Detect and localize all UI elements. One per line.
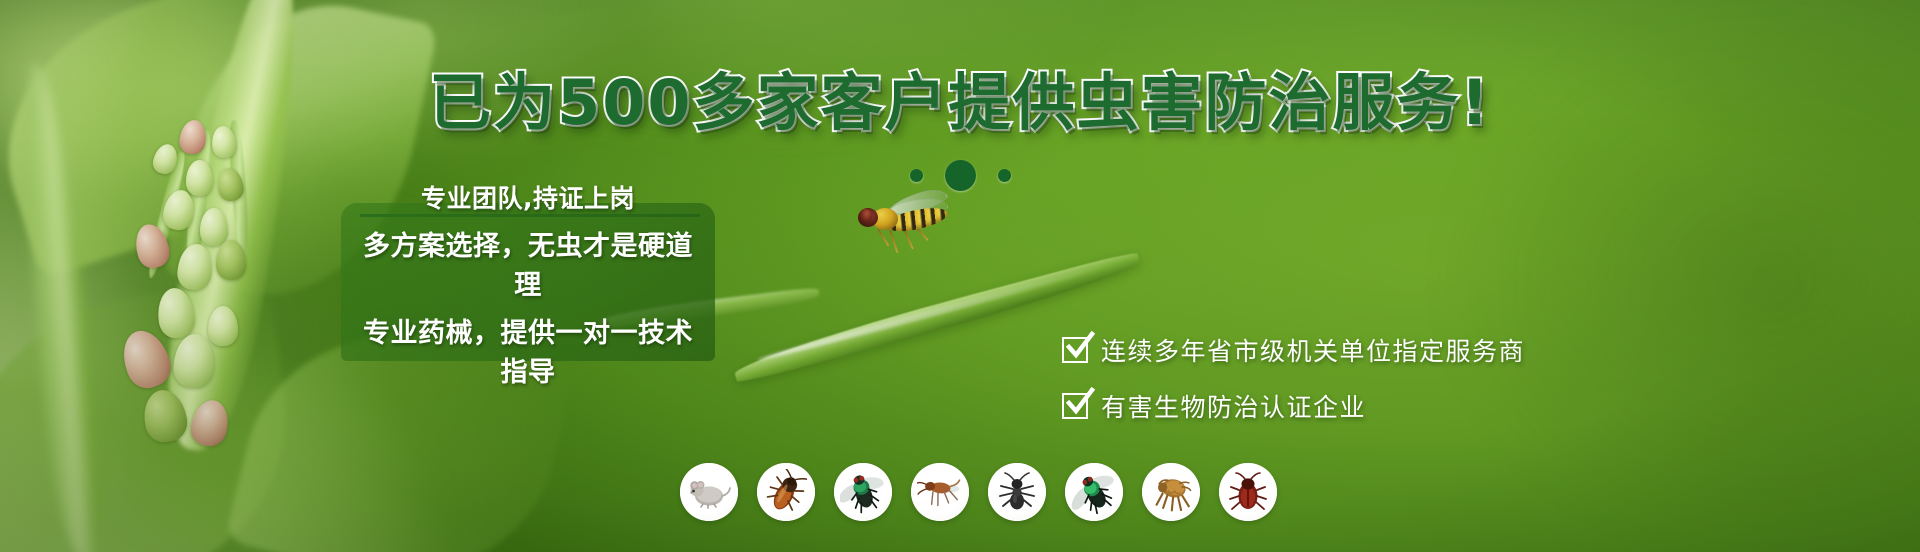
mouse-icon[interactable]: 鼠 bbox=[680, 463, 738, 521]
blowfly-icon[interactable]: 苍蝇 bbox=[834, 463, 892, 521]
flea-icon[interactable]: 跳蚤 bbox=[1142, 463, 1200, 521]
checked-checkbox-icon bbox=[1062, 393, 1088, 419]
checklist-item-label: 连续多年省市级机关单位指定服务商 bbox=[1101, 332, 1525, 368]
promotional-banner: 已为500多家客户提供虫害防治服务! 专业团队,持证上岗 多方案选择，无虫才是硬… bbox=[0, 0, 1920, 552]
claims-box: 专业团队,持证上岗 多方案选择，无虫才是硬道理 专业药械，提供一对一技术指导 bbox=[341, 203, 715, 361]
claim-line-3: 专业药械，提供一对一技术指导 bbox=[361, 311, 695, 389]
checklist-item-label: 有害生物防治认证企业 bbox=[1101, 388, 1366, 424]
checked-checkbox-icon bbox=[1062, 337, 1088, 363]
cockroach-icon[interactable]: 蟑螂 bbox=[757, 463, 815, 521]
dot-large-icon bbox=[945, 160, 976, 191]
checklist-item: 有害生物防治认证企业 bbox=[1062, 388, 1525, 424]
dot-small-icon bbox=[998, 169, 1011, 182]
checklist-item: 连续多年省市级机关单位指定服务商 bbox=[1062, 332, 1525, 368]
decorative-dot-group bbox=[0, 160, 1920, 191]
greenbottle-fly-icon[interactable]: 绿头蝇 bbox=[1065, 463, 1123, 521]
pest-icon-row: 鼠 蟑螂 bbox=[680, 463, 1277, 521]
banner-headline-text: 已为500多家客户提供虫害防治服务! bbox=[429, 66, 1491, 139]
ant-icon[interactable]: 蚂蚁 bbox=[988, 463, 1046, 521]
credentials-checklist: 连续多年省市级机关单位指定服务商 有害生物防治认证企业 bbox=[1062, 332, 1525, 424]
mosquito-icon[interactable]: 蚊 bbox=[911, 463, 969, 521]
dot-small-icon bbox=[910, 169, 923, 182]
bedbug-icon[interactable]: 臭虫 bbox=[1219, 463, 1277, 521]
claim-line-2: 多方案选择，无虫才是硬道理 bbox=[361, 224, 695, 302]
claim-line-1: 专业团队,持证上岗 bbox=[361, 179, 695, 215]
banner-headline: 已为500多家客户提供虫害防治服务! bbox=[0, 72, 1920, 134]
